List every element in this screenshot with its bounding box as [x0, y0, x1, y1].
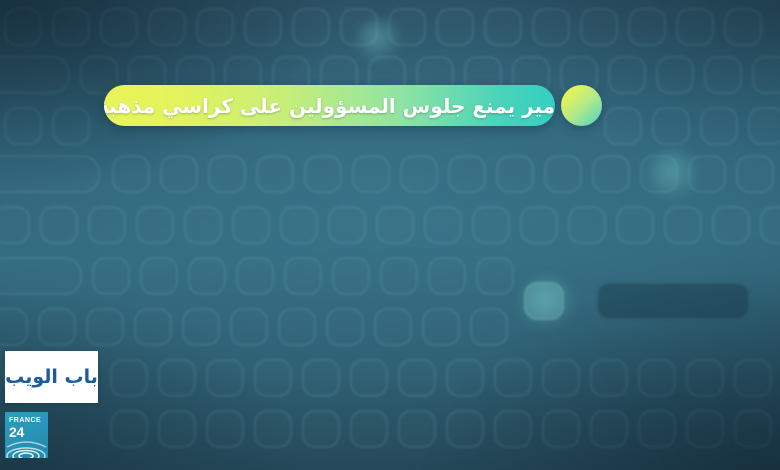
channel-logo-france24: FRANCE 24 — [5, 412, 48, 458]
channel-logo-word: FRANCE — [9, 417, 41, 424]
france24-video-frame: أمير يمنع جلوس المسؤولين على كراسي مذهبة… — [0, 0, 780, 470]
accent-dot — [561, 85, 602, 126]
program-logo-bab-al-web: باب الويب — [5, 351, 98, 403]
headline-banner: أمير يمنع جلوس المسؤولين على كراسي مذهبة — [104, 85, 555, 126]
channel-logo-swoosh-icon — [5, 436, 48, 458]
background-corner-shade — [0, 0, 780, 470]
headline-text: أمير يمنع جلوس المسؤولين على كراسي مذهبة — [104, 96, 555, 116]
program-logo-text: باب الويب — [5, 368, 98, 387]
